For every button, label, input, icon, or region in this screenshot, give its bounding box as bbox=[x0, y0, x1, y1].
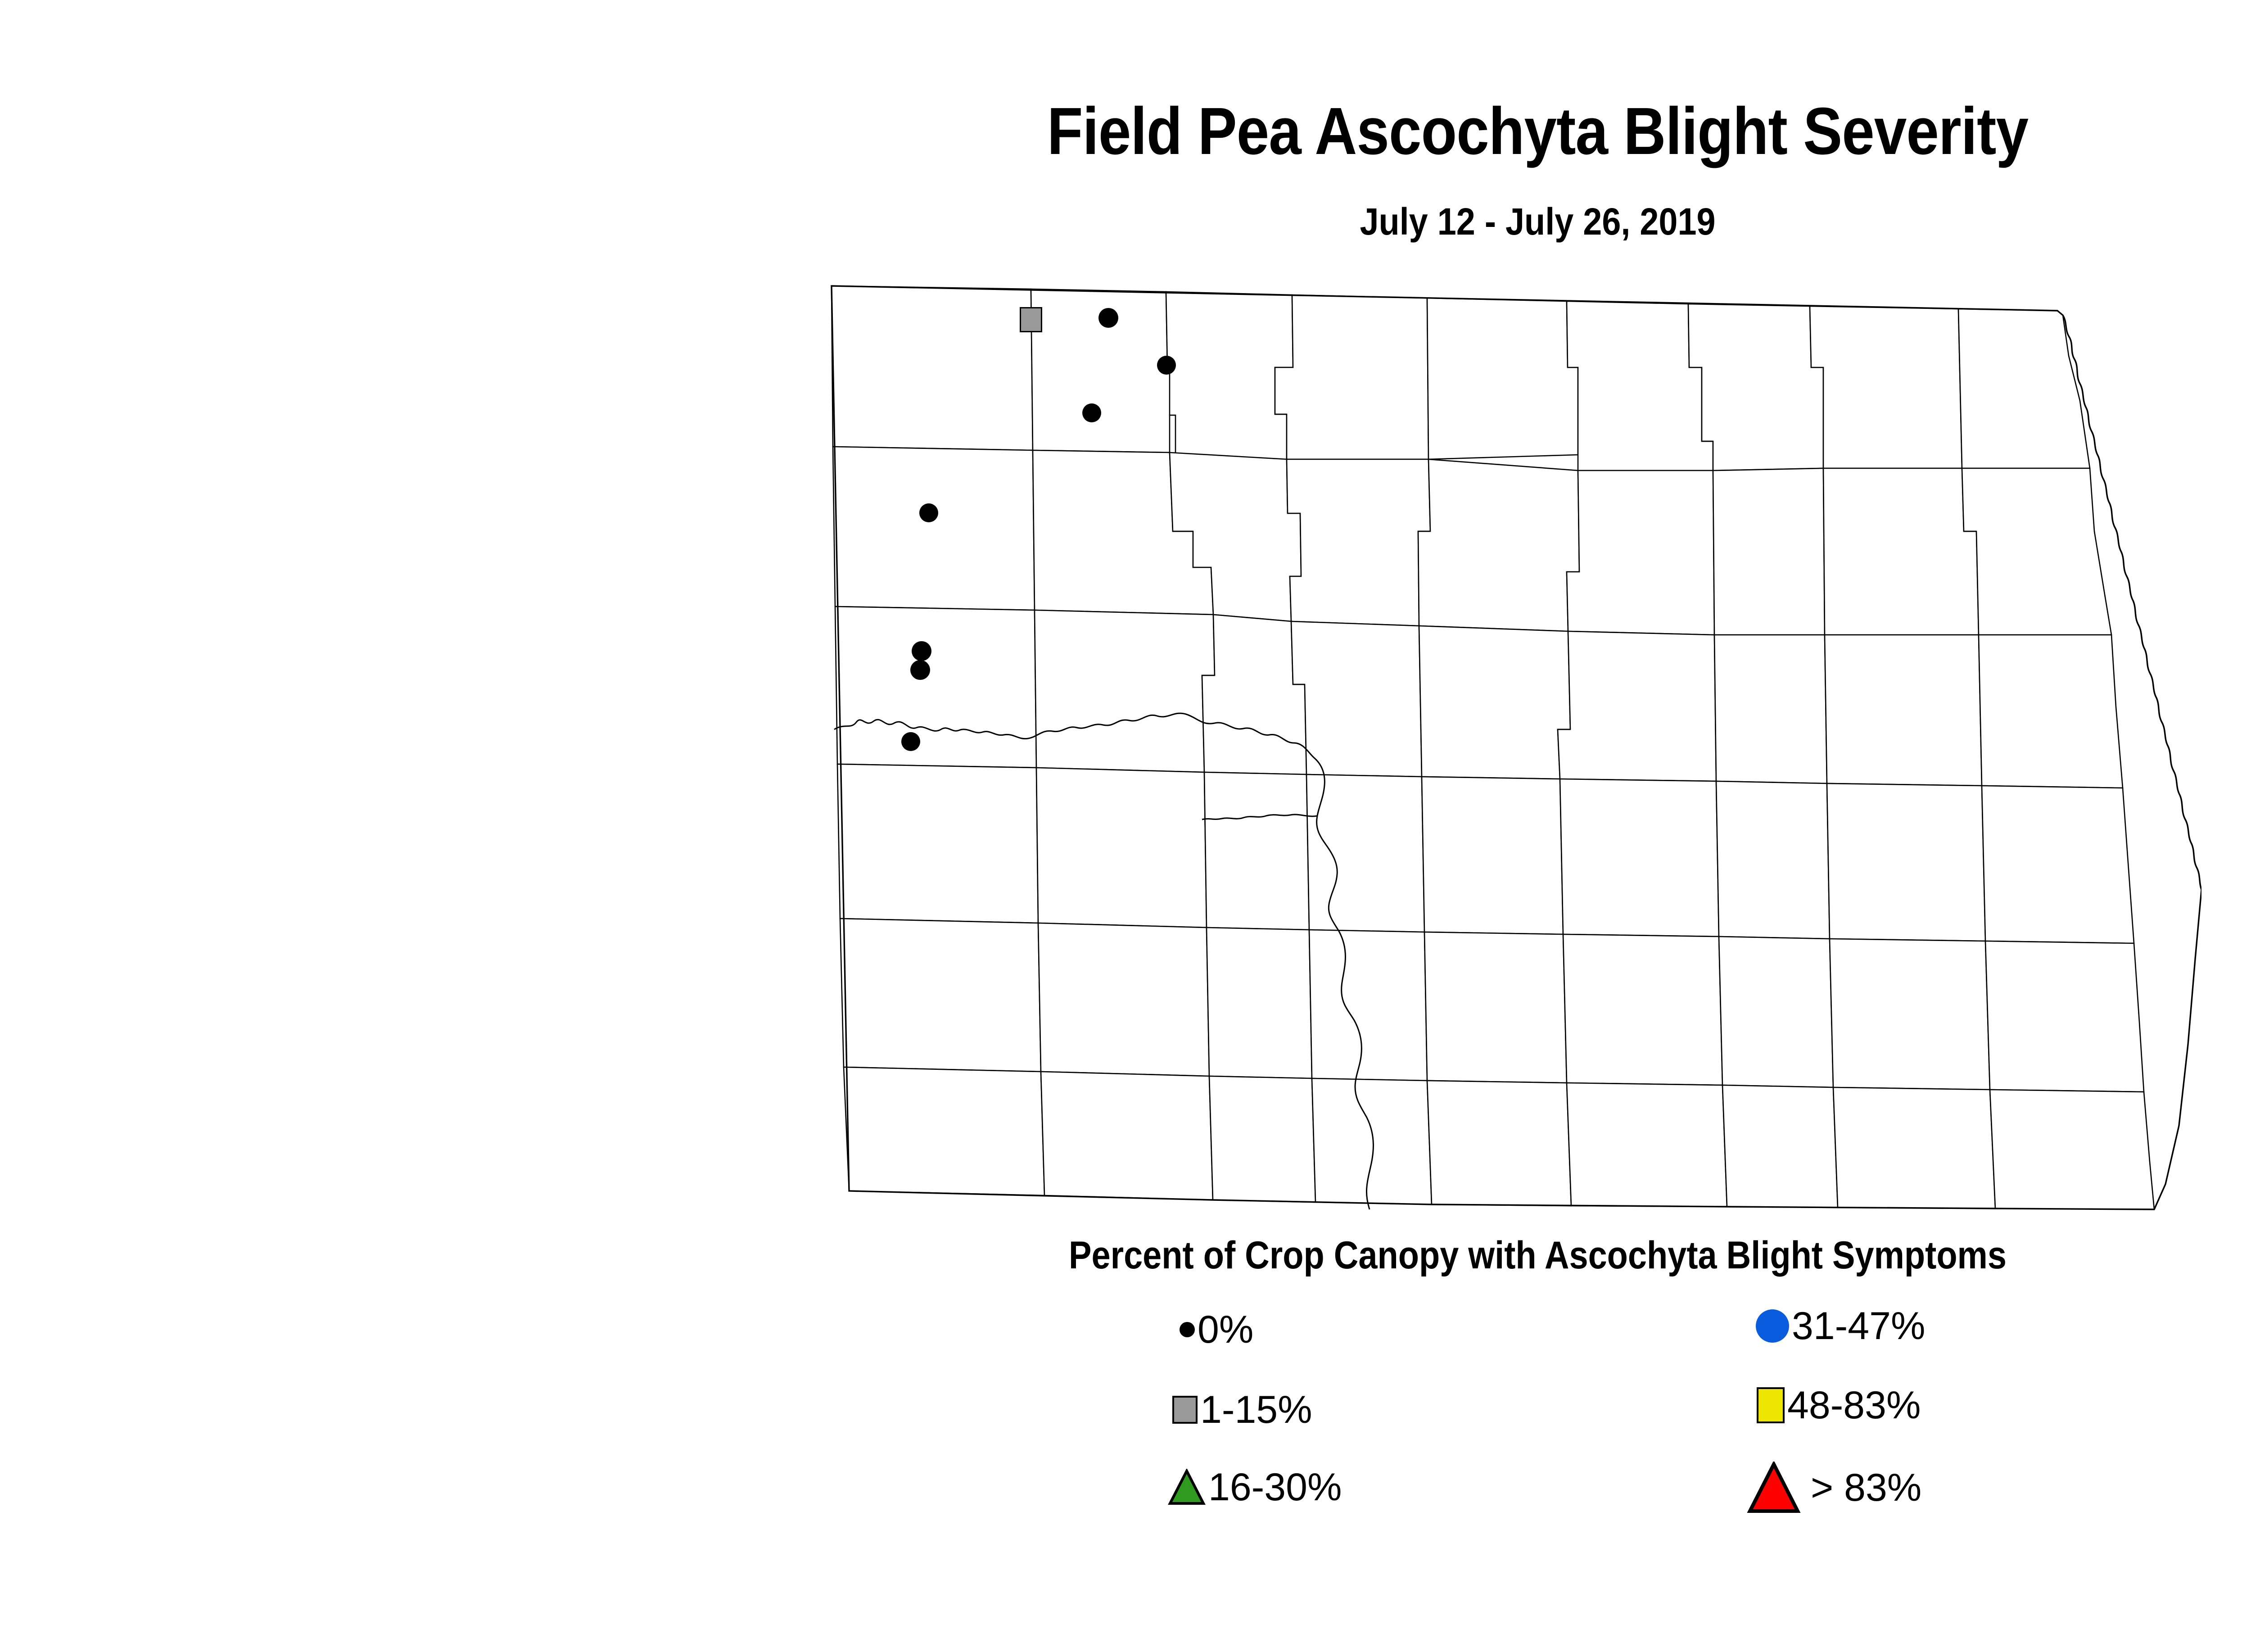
map-page: Field Pea Ascochyta Blight Severity July… bbox=[0, 0, 2251, 1652]
map-marker-0pct[interactable] bbox=[1098, 308, 1118, 328]
legend-label: 31-47% bbox=[1792, 1307, 1925, 1345]
legend-label: > 83% bbox=[1811, 1468, 1921, 1507]
map-marker-0pct[interactable] bbox=[1082, 403, 1101, 422]
legend-label: 1-15% bbox=[1200, 1390, 1312, 1429]
map-marker-1-15pct[interactable] bbox=[1020, 307, 1042, 332]
map-svg bbox=[761, 279, 2201, 1216]
square-icon bbox=[1172, 1396, 1198, 1424]
legend: 0% 1-15% 16-30% 31-47% bbox=[1162, 1310, 2242, 1589]
legend-item-16-30pct[interactable]: 16-30% bbox=[1168, 1468, 1342, 1507]
map-marker-0pct[interactable] bbox=[910, 660, 930, 680]
map-marker-0pct[interactable] bbox=[912, 641, 931, 661]
legend-label: 48-83% bbox=[1787, 1386, 1921, 1425]
circle-large-icon bbox=[1756, 1309, 1789, 1343]
map-marker-0pct[interactable] bbox=[901, 732, 920, 751]
circle-small-icon bbox=[1180, 1322, 1195, 1337]
square-icon bbox=[1757, 1387, 1785, 1423]
legend-item-over-83pct[interactable]: > 83% bbox=[1747, 1462, 1921, 1514]
triangle-icon bbox=[1747, 1462, 1801, 1514]
legend-label: 0% bbox=[1198, 1310, 1253, 1349]
legend-label: 16-30% bbox=[1208, 1468, 1342, 1507]
map-marker-0pct[interactable] bbox=[919, 503, 938, 522]
north-dakota-county-map[interactable] bbox=[761, 279, 2201, 1216]
page-subtitle: July 12 - July 26, 2019 bbox=[154, 203, 2251, 240]
page-title: Field Pea Ascochyta Blight Severity bbox=[185, 98, 2251, 165]
legend-item-1-15pct[interactable]: 1-15% bbox=[1172, 1390, 1312, 1429]
triangle-icon bbox=[1168, 1469, 1206, 1506]
map-marker-0pct[interactable] bbox=[1157, 356, 1176, 375]
legend-item-0pct[interactable]: 0% bbox=[1180, 1310, 1253, 1349]
legend-item-31-47pct[interactable]: 31-47% bbox=[1756, 1307, 1925, 1345]
legend-item-48-83pct[interactable]: 48-83% bbox=[1757, 1386, 1921, 1425]
legend-heading: Percent of Crop Canopy with Ascochyta Bl… bbox=[185, 1236, 2251, 1275]
county-polygons bbox=[832, 286, 2154, 1209]
